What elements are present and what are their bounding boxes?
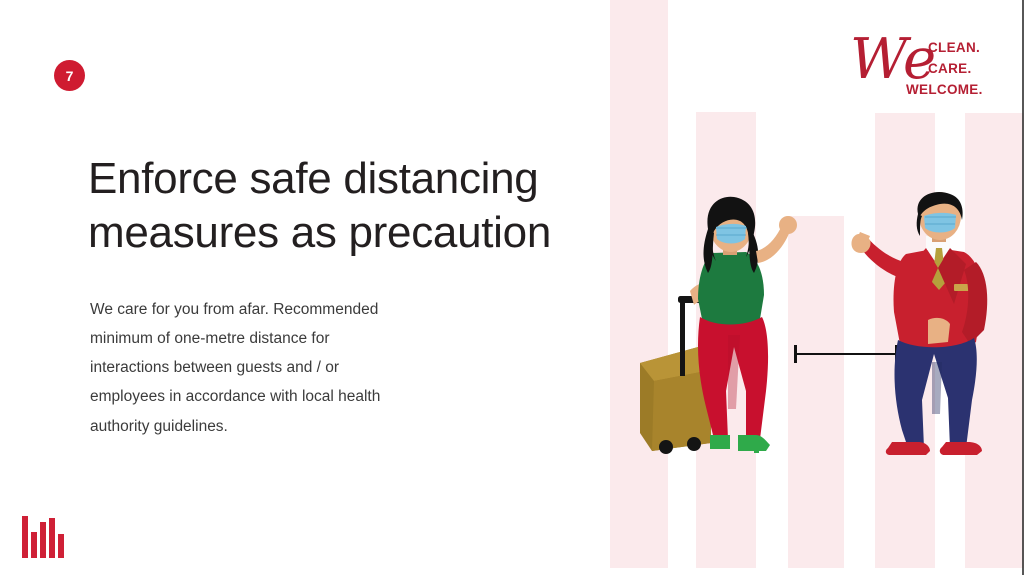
slide-number-text: 7	[66, 69, 74, 83]
logo-bar	[31, 532, 37, 558]
male-staff-figure	[842, 192, 1022, 457]
body-paragraph: We care for you from afar. Recommended m…	[90, 295, 490, 441]
body-line: We care for you from afar. Recommended	[90, 295, 490, 324]
we-logo-words: CLEAN. CARE. WELCOME.	[928, 38, 983, 101]
slide-number-badge: 7	[54, 60, 85, 91]
page-title-line-2: measures as precaution	[88, 208, 551, 257]
logo-bar	[49, 518, 55, 558]
female-traveller-figure	[628, 195, 828, 455]
body-line: employees in accordance with local healt…	[90, 382, 490, 411]
body-line: interactions between guests and / or	[90, 353, 490, 382]
page-title-line-1: Enforce safe distancing	[88, 154, 538, 203]
logo-bar	[40, 522, 46, 558]
page-title: Enforce safe distancing measures as prec…	[88, 152, 568, 259]
we-logo-line-1: CLEAN.	[928, 38, 983, 59]
logo-bar	[22, 516, 28, 558]
logo-bar	[58, 534, 64, 558]
brand-mark-icon	[22, 516, 62, 558]
we-logo-line-2: CARE.	[928, 59, 983, 80]
body-line: authority guidelines.	[90, 412, 490, 441]
we-clean-care-welcome-logo: We CLEAN. CARE. WELCOME.	[850, 22, 1000, 107]
slide-canvas: 7 Enforce safe distancing measures as pr…	[0, 0, 1024, 575]
we-logo-line-3: WELCOME.	[906, 80, 983, 101]
body-line: minimum of one-metre distance for	[90, 324, 490, 353]
